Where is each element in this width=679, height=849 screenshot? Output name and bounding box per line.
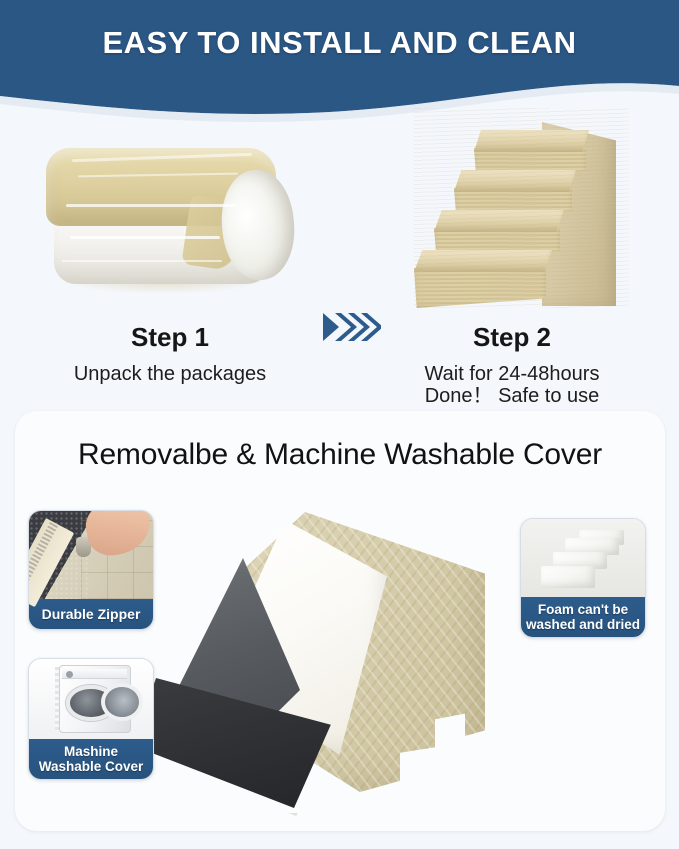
hand-pulling-zipper-image: [29, 511, 153, 599]
compressed-roll-package-icon: [26, 140, 294, 300]
feature-card-machine-washable: Mashine Washable Cover: [28, 658, 154, 780]
step-2-title: Step 2: [352, 322, 672, 353]
pet-stairs-cover-peeled-back-image: [165, 506, 535, 826]
feature-card-durable-zipper: Durable Zipper: [28, 510, 154, 630]
step-1-description: Unpack the packages: [10, 363, 330, 385]
step-2-description: Wait for 24-48hours Done！ Safe to use: [352, 363, 672, 408]
step-1-title: Step 1: [10, 322, 330, 353]
infographic-page: EASY TO INSTALL AND CLEAN Step 1: [0, 0, 679, 849]
machine-washable-caption-line1: Mashine: [64, 745, 118, 760]
feature-card-foam-not-washable-caption: Foam can't be washed and dried: [521, 597, 645, 638]
durable-zipper-caption-line1: Durable Zipper: [42, 607, 141, 622]
step-1: Step 1 Unpack the packages: [10, 118, 330, 385]
feature-card-foam-not-washable: Foam can't be washed and dried: [520, 518, 646, 638]
feature-card-durable-zipper-caption: Durable Zipper: [29, 599, 153, 630]
step-2-description-line2: Done！ Safe to use: [352, 385, 672, 407]
step-2-description-line1: Wait for 24-48hours: [425, 363, 600, 385]
step-1-illustration: [10, 118, 330, 318]
foam-not-washable-caption-line1: Foam can't be: [538, 603, 628, 618]
cover-panel-title: Removalbe & Machine Washable Cover: [15, 438, 665, 472]
step-2: Step 2 Wait for 24-48hours Done！ Safe to…: [352, 90, 672, 408]
step-2-illustration: [352, 90, 672, 318]
foam-not-washable-caption-line2: washed and dried: [526, 618, 640, 633]
machine-washable-caption-line2: Washable Cover: [39, 760, 144, 775]
page-title: EASY TO INSTALL AND CLEAN: [0, 25, 679, 61]
white-foam-stairs-image: [521, 519, 645, 597]
feature-card-machine-washable-caption: Mashine Washable Cover: [29, 739, 153, 780]
wooden-pet-stairs-icon: [414, 108, 629, 308]
steps-section: Step 1 Unpack the packages: [0, 118, 679, 398]
washing-machine-image: [29, 659, 153, 739]
